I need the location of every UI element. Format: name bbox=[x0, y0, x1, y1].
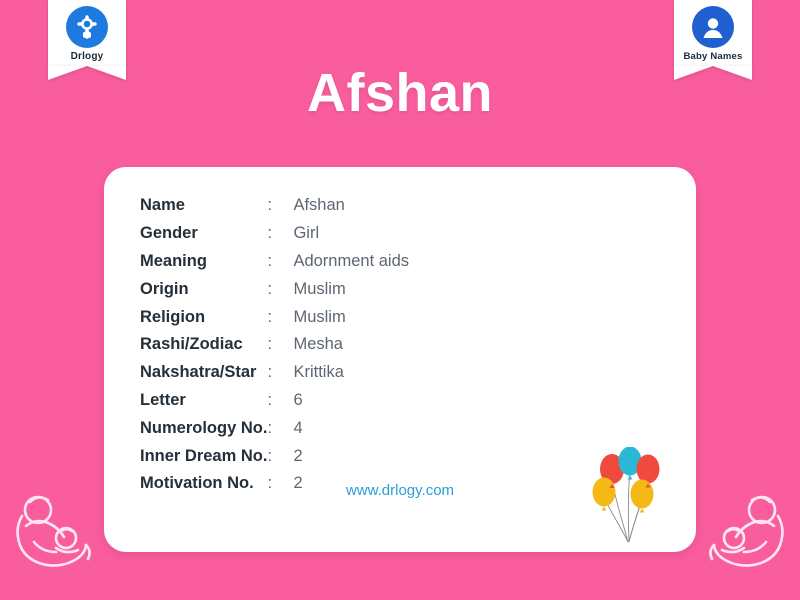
row-label: Origin bbox=[140, 275, 267, 303]
table-row: Name : Afshan bbox=[140, 192, 409, 220]
balloons-icon bbox=[568, 447, 688, 552]
row-label: Nakshatra/Star bbox=[140, 359, 267, 387]
row-value: Adornment aids bbox=[293, 248, 409, 276]
row-separator: : bbox=[267, 387, 293, 415]
drlogy-badge-label: Drlogy bbox=[48, 51, 126, 62]
row-separator: : bbox=[267, 442, 293, 470]
drlogy-logo-icon bbox=[66, 6, 108, 48]
row-value: 2 bbox=[293, 442, 409, 470]
name-details-table-body: Name : Afshan Gender : Girl Meaning : Ad… bbox=[140, 192, 409, 498]
row-separator: : bbox=[267, 192, 293, 220]
row-value: 6 bbox=[293, 387, 409, 415]
row-label: Gender bbox=[140, 220, 267, 248]
mother-baby-icon bbox=[686, 482, 796, 592]
row-label: Letter bbox=[140, 387, 267, 415]
row-label: Rashi/Zodiac bbox=[140, 331, 267, 359]
row-separator: : bbox=[267, 275, 293, 303]
table-row: Letter : 6 bbox=[140, 387, 409, 415]
row-separator: : bbox=[267, 303, 293, 331]
table-row: Religion : Muslim bbox=[140, 303, 409, 331]
row-separator: : bbox=[267, 414, 293, 442]
table-row: Inner Dream No. : 2 bbox=[140, 442, 409, 470]
row-label: Meaning bbox=[140, 248, 267, 276]
row-value: Muslim bbox=[293, 275, 409, 303]
row-value: Afshan bbox=[293, 192, 409, 220]
table-row: Nakshatra/Star : Krittika bbox=[140, 359, 409, 387]
row-value: Mesha bbox=[293, 331, 409, 359]
row-value: Krittika bbox=[293, 359, 409, 387]
row-separator: : bbox=[267, 331, 293, 359]
row-label: Inner Dream No. bbox=[140, 442, 267, 470]
row-value: Girl bbox=[293, 220, 409, 248]
drlogy-badge-body: Drlogy bbox=[48, 0, 126, 66]
name-details-card: Name : Afshan Gender : Girl Meaning : Ad… bbox=[104, 167, 696, 552]
table-row: Meaning : Adornment aids bbox=[140, 248, 409, 276]
row-label: Religion bbox=[140, 303, 267, 331]
baby-names-badge-body: Baby Names bbox=[674, 0, 752, 66]
row-label: Numerology No. bbox=[140, 414, 267, 442]
row-separator: : bbox=[267, 359, 293, 387]
table-row: Rashi/Zodiac : Mesha bbox=[140, 331, 409, 359]
baby-names-badge-label: Baby Names bbox=[674, 51, 752, 62]
drlogy-badge-ribbon-tail bbox=[48, 66, 126, 80]
drlogy-badge[interactable]: Drlogy bbox=[48, 0, 126, 80]
baby-names-badge-ribbon-tail bbox=[674, 66, 752, 80]
table-row: Gender : Girl bbox=[140, 220, 409, 248]
baby-names-badge[interactable]: Baby Names bbox=[674, 0, 752, 80]
mother-baby-icon bbox=[4, 482, 114, 592]
name-details-table: Name : Afshan Gender : Girl Meaning : Ad… bbox=[140, 192, 409, 498]
row-label: Name bbox=[140, 192, 267, 220]
table-row: Origin : Muslim bbox=[140, 275, 409, 303]
table-row: Numerology No. : 4 bbox=[140, 414, 409, 442]
baby-avatar-icon bbox=[692, 6, 734, 48]
row-value: Muslim bbox=[293, 303, 409, 331]
row-value: 4 bbox=[293, 414, 409, 442]
row-separator: : bbox=[267, 220, 293, 248]
row-separator: : bbox=[267, 248, 293, 276]
